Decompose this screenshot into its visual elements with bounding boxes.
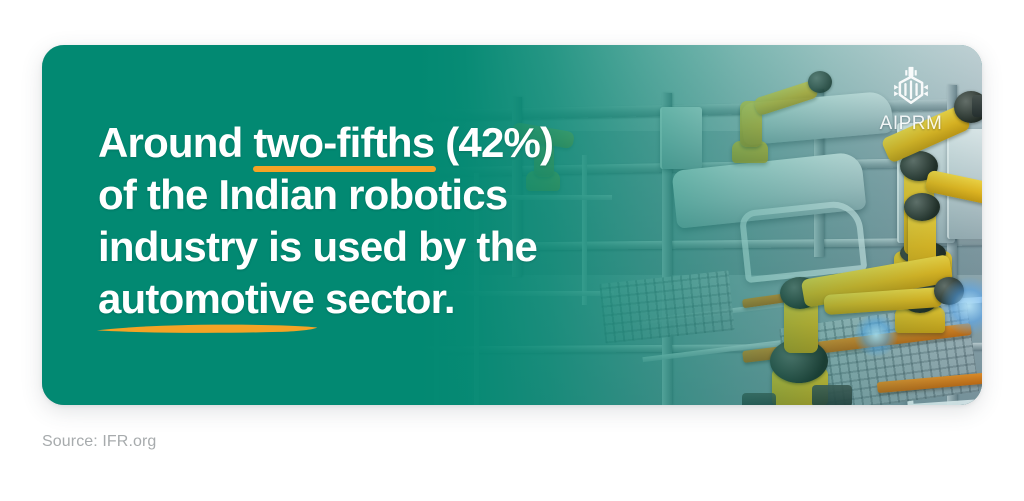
- headline-text: industry is used by the: [98, 223, 537, 270]
- headline-line-1: Around two-fifths (42%): [98, 117, 658, 169]
- underline-brush-icon: [94, 322, 320, 333]
- source-caption: Source: IFR.org: [42, 433, 156, 451]
- headline-line-2: of the Indian robotics: [98, 169, 658, 221]
- headline-text: Around: [98, 119, 253, 166]
- headline-highlight-two-fifths: two-fifths: [253, 117, 434, 169]
- stat-card: Around two-fifths (42%) of the Indian ro…: [42, 45, 982, 405]
- headline-line-4: automotive sector.: [98, 273, 658, 325]
- headline-text: sector.: [314, 275, 455, 322]
- headline-highlight-automotive: automotive: [98, 273, 314, 325]
- headline-highlight-text: two-fifths: [253, 119, 434, 166]
- aiprm-emblem-icon: [888, 65, 934, 111]
- headline-text: of the Indian robotics: [98, 171, 507, 218]
- headline: Around two-fifths (42%) of the Indian ro…: [98, 117, 658, 325]
- headline-line-3: industry is used by the: [98, 221, 658, 273]
- poster-canvas: Around two-fifths (42%) of the Indian ro…: [0, 0, 1024, 501]
- headline-highlight-text: automotive: [98, 275, 314, 322]
- brand-logo-text: AIPRM: [868, 113, 954, 135]
- headline-text: (42%): [434, 119, 553, 166]
- brand-logo[interactable]: AIPRM: [868, 65, 954, 135]
